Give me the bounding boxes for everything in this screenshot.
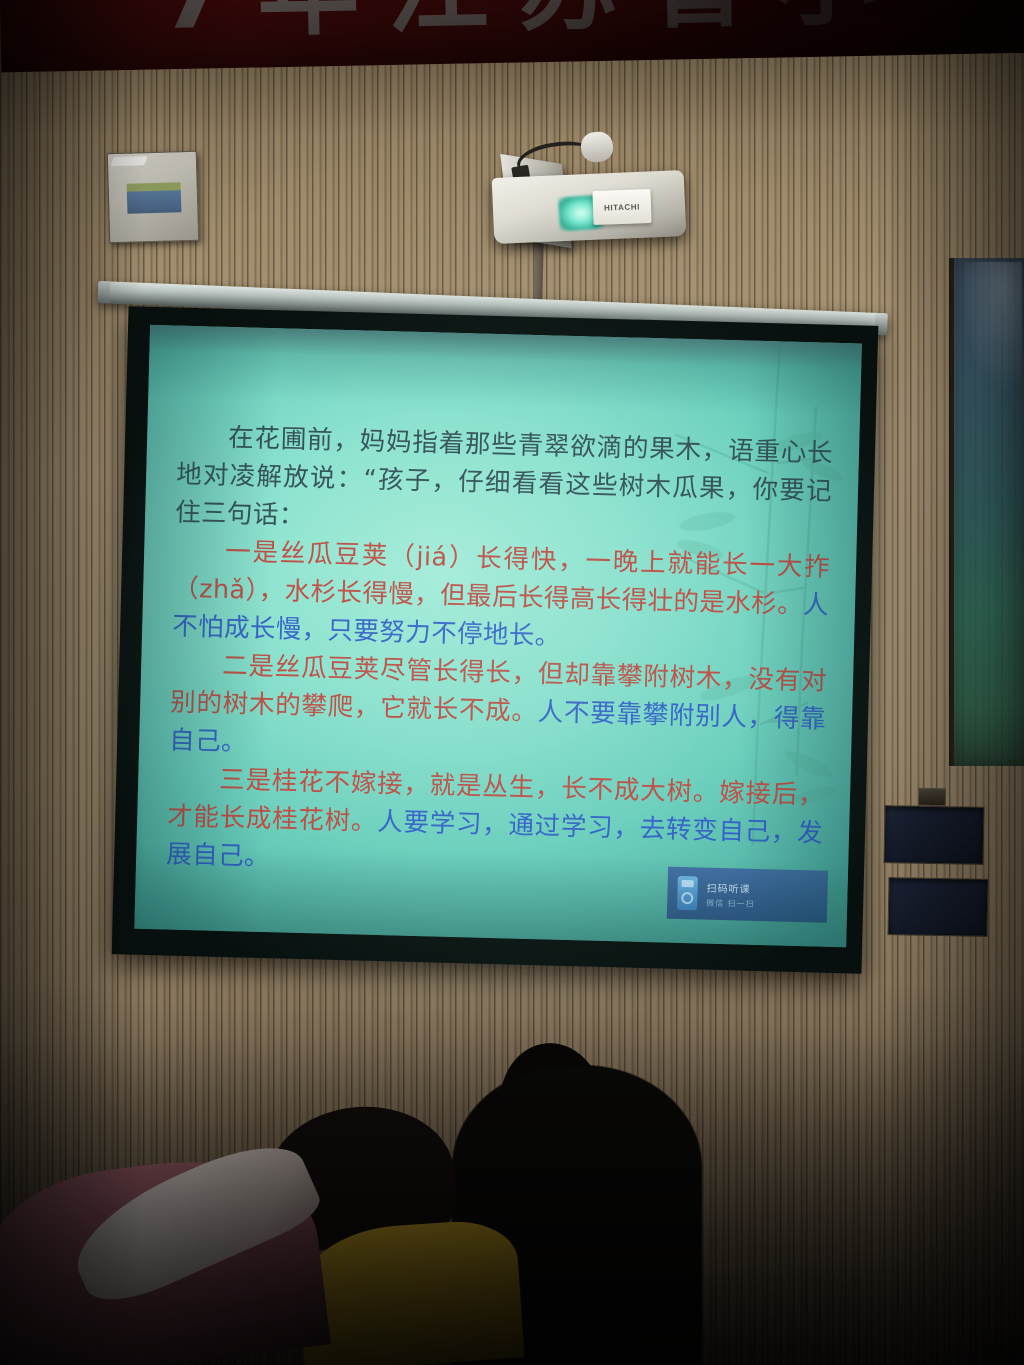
- control-box-glare: [110, 156, 147, 166]
- projection-screen-surface[interactable]: 在花圃前，妈妈指着那些青翠欲滴的果木，语重心长地对凌解放说：“孩子，仔细看看这些…: [134, 325, 862, 947]
- wall-fixture-icon: [918, 788, 946, 806]
- wall-panel-lower[interactable]: [888, 877, 989, 937]
- slide-paragraph-lesson-one: 一是丝瓜豆荚（jiá）长得快，一晚上就能长一大拃（zhǎ），水杉长得慢，但最后长…: [172, 532, 831, 663]
- badge-text-group: 扫码听课 微信 扫一扫: [706, 879, 755, 909]
- slide-qr-badge: 扫码听课 微信 扫一扫: [667, 867, 828, 923]
- projection-screen-frame: 在花圃前，妈妈指着那些青翠欲滴的果木，语重心长地对凌解放说：“孩子，仔细看看这些…: [112, 306, 879, 973]
- screen-top-band: [149, 325, 861, 370]
- wall-panel-upper[interactable]: [884, 805, 985, 865]
- classroom-photo-scene: 7年江苏省小 HITACHI: [0, 0, 1024, 1365]
- roller-end-left: [98, 281, 111, 303]
- projector-assembly: HITACHI: [487, 126, 692, 246]
- badge-secondary-label: 微信 扫一扫: [706, 897, 755, 909]
- slide-paragraph-intro: 在花圃前，妈妈指着那些青翠欲滴的果木，语重心长地对凌解放说：“孩子，仔细看看这些…: [175, 418, 834, 549]
- side-poster: [949, 258, 1024, 766]
- slide-paragraph-lesson-two: 二是丝瓜豆荚尽管长得长，但却靠攀附树木，没有对别的树木的攀爬，它就长不成。人不要…: [169, 646, 828, 777]
- projector-brand-plate: HITACHI: [592, 189, 651, 225]
- poster-sky-gradient: [960, 262, 1022, 392]
- badge-primary-label: 扫码听课: [706, 879, 755, 895]
- scan-code-icon: [677, 876, 698, 911]
- control-box-faceplate: [127, 182, 182, 213]
- lesson-one-text: 一是丝瓜豆荚（jiá）长得快，一晚上就能长一大拃（zhǎ），水杉长得慢，但最后长…: [173, 537, 831, 620]
- projector-swivel-joint: [580, 130, 615, 163]
- projector-brand-label: HITACHI: [604, 202, 640, 212]
- slide-body-text: 在花圃前，妈妈指着那些青翠欲滴的果木，语重心长地对凌解放说：“孩子，仔细看看这些…: [166, 418, 834, 891]
- wall-control-box[interactable]: [107, 151, 199, 243]
